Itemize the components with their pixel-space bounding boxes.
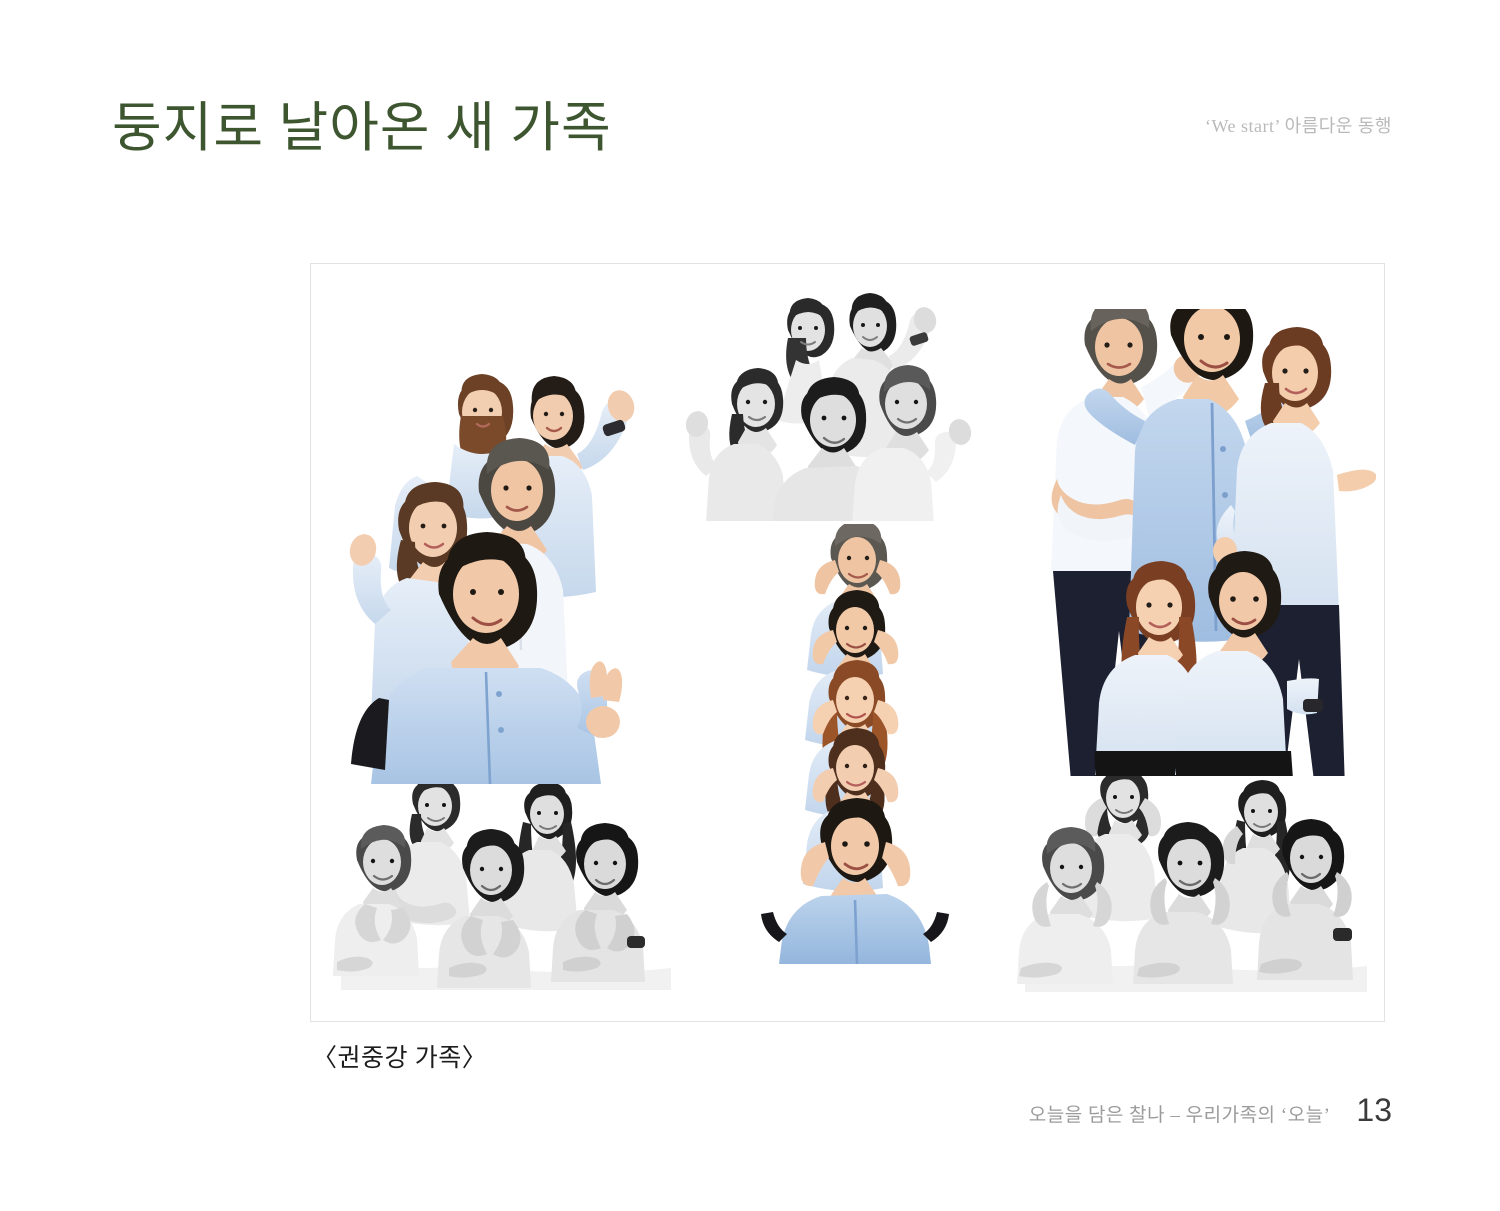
header-tagline: ‘We start’ 아름다운 동행 [1205, 112, 1392, 138]
collage-caption: 〈권중강 가족〉 [312, 1038, 487, 1074]
photo-family-stacked-color [331, 294, 661, 784]
photo-collage-frame [310, 263, 1385, 1022]
page-title: 둥지로 날아온 새 가족 [112, 100, 612, 157]
photo-family-totem-color [743, 524, 963, 964]
photo-family-group-bw-top [684, 286, 994, 521]
photo-family-lying-bw-right [1011, 776, 1376, 1004]
footer-series-text: 오늘을 담은 찰나 – 우리가족의 ‘오늘’ [1029, 1100, 1331, 1127]
page-number: 13 [1356, 1092, 1392, 1129]
photo-family-lying-bw-left [331, 784, 681, 1004]
page-footer: 오늘을 담은 찰나 – 우리가족의 ‘오늘’ 13 [1029, 1092, 1392, 1129]
